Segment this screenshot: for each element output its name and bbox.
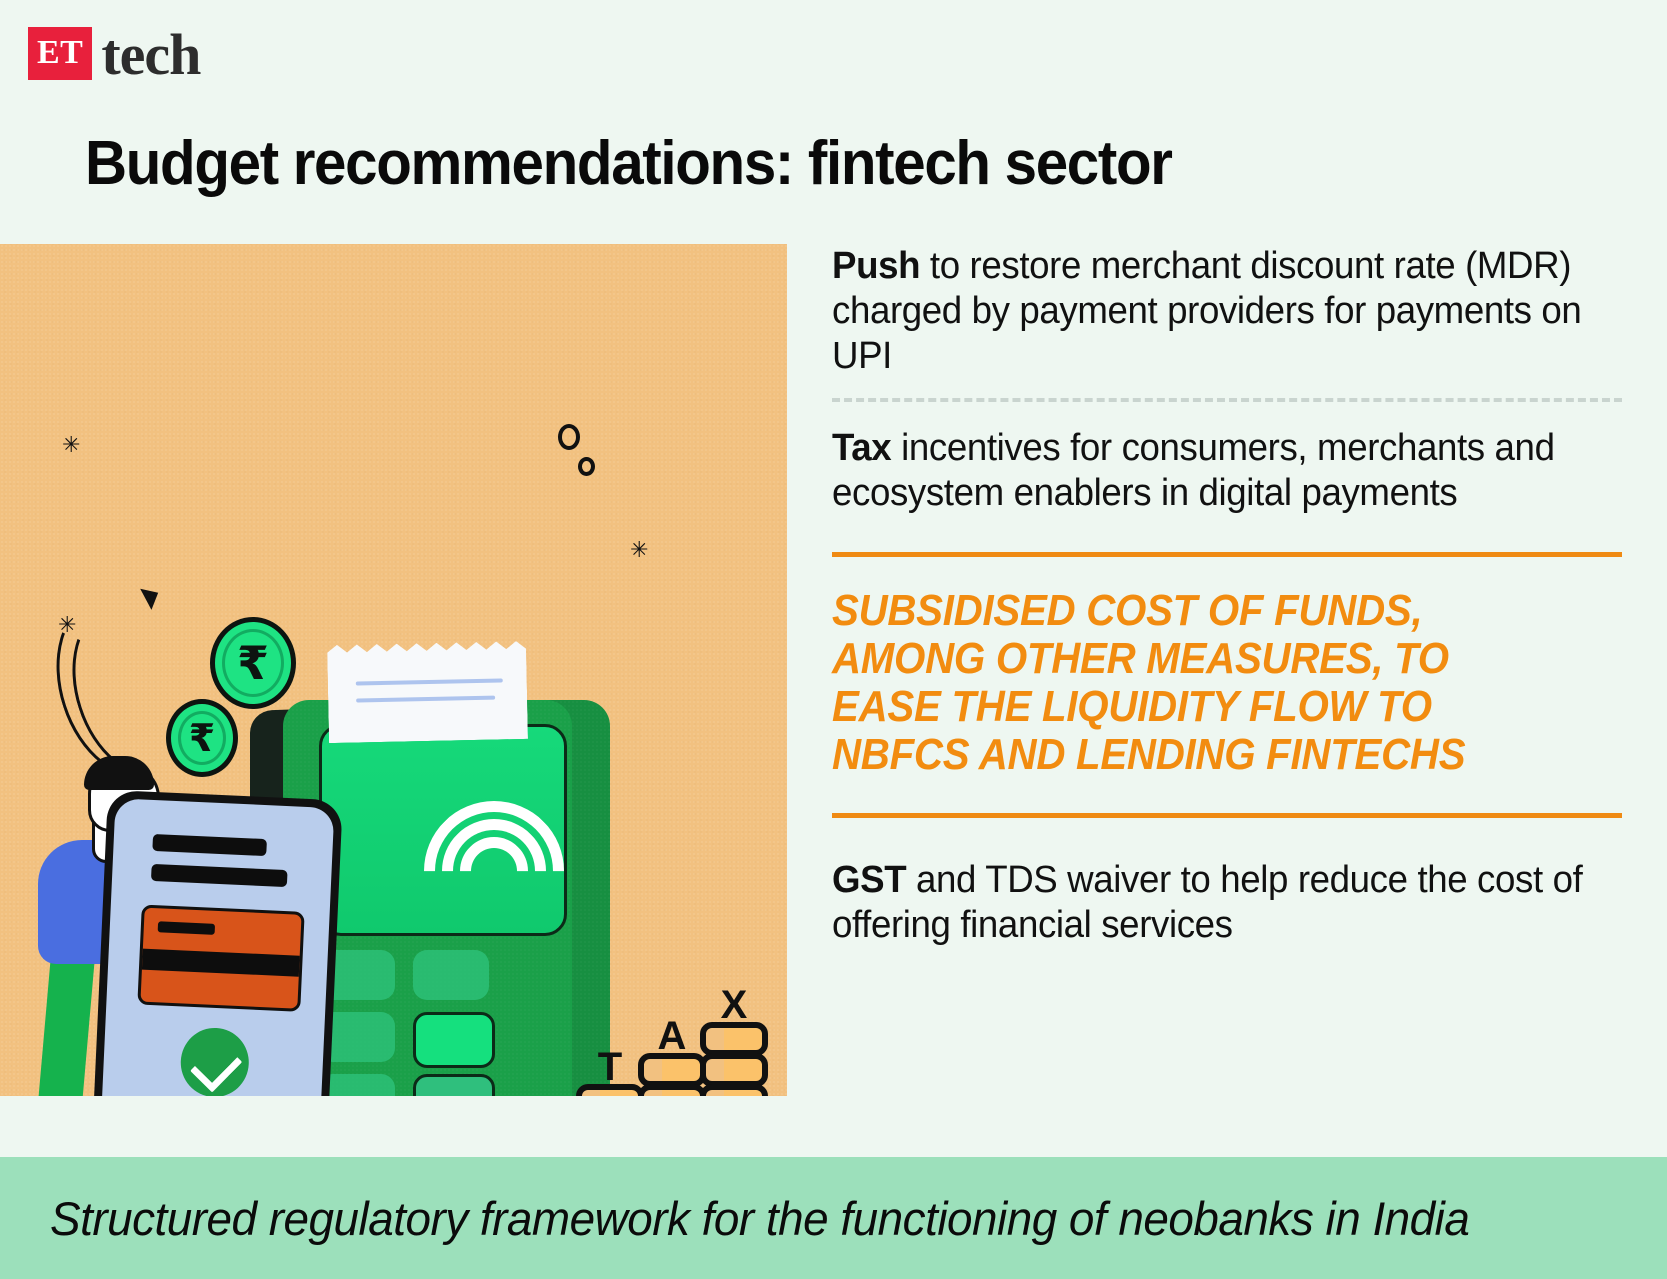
tax-stack-a: A xyxy=(638,1056,706,1096)
receipt-line xyxy=(356,679,503,686)
coin xyxy=(638,1084,706,1096)
receipt-icon xyxy=(327,641,528,743)
bubble-icon xyxy=(578,457,595,476)
recommendation-lead-1: Push xyxy=(832,245,920,287)
divider-dashed xyxy=(832,398,1622,402)
tax-stack-t: T xyxy=(576,1087,644,1096)
recommendations-column: Push to restore merchant discount rate (… xyxy=(832,244,1627,948)
coin xyxy=(700,1084,768,1096)
highlight-callout: Subsidised cost of funds, among other me… xyxy=(832,587,1559,779)
credit-card-icon xyxy=(137,905,305,1012)
smartphone: PAYMENT SUCCESSFUL xyxy=(90,790,343,1096)
screen-text-bar xyxy=(151,864,287,887)
et-logo-badge: ET xyxy=(28,27,92,80)
keypad-key[interactable] xyxy=(413,1012,495,1068)
contactless-wave-icon xyxy=(395,772,567,936)
keypad-key[interactable] xyxy=(413,950,489,1000)
divider-orange-top xyxy=(832,552,1622,557)
card-magnetic-stripe xyxy=(142,949,300,977)
coin xyxy=(638,1053,706,1087)
recommendation-item-3: GST and TDS waiver to help reduce the co… xyxy=(832,858,1599,948)
smartphone-screen: PAYMENT SUCCESSFUL xyxy=(99,798,335,1096)
receipt-line xyxy=(356,695,495,702)
keypad-key[interactable] xyxy=(413,1074,495,1096)
sparkle-icon: ✳ xyxy=(62,434,80,456)
card-chip xyxy=(157,921,214,935)
recommendation-lead-3: GST xyxy=(832,859,906,901)
bubble-icon xyxy=(558,424,580,450)
coin xyxy=(700,1053,768,1087)
ettech-logo[interactable]: ET tech xyxy=(28,22,200,84)
rupee-coin-icon: ₹ xyxy=(210,617,296,709)
tax-stack-x: X xyxy=(700,1025,768,1096)
recommendation-body-3: and TDS waiver to help reduce the cost o… xyxy=(832,859,1582,946)
recommendation-body-2: incentives for consumers, merchants and … xyxy=(832,427,1555,514)
footer-caption: Structured regulatory framework for the … xyxy=(50,1191,1469,1246)
screen-text-bar xyxy=(153,834,268,856)
coin xyxy=(700,1022,768,1056)
recommendation-item-2: Tax incentives for consumers, merchants … xyxy=(832,426,1599,516)
pos-terminal-screen xyxy=(319,724,567,936)
recommendation-body-1: to restore merchant discount rate (MDR) … xyxy=(832,245,1581,377)
rupee-coin-icon: ₹ xyxy=(166,699,238,777)
footer-bar: Structured regulatory framework for the … xyxy=(0,1157,1667,1279)
arrow-head-icon xyxy=(140,582,164,610)
success-check-icon xyxy=(179,1026,250,1096)
fintech-payment-illustration: ✳ ✳ ✳ ✳ ₹ ₹ xyxy=(0,244,787,1096)
divider-orange-bottom xyxy=(832,813,1622,818)
tax-coin-stacks: T A X xyxy=(576,1020,756,1096)
person-leg xyxy=(34,942,96,1096)
recommendation-item-1: Push to restore merchant discount rate (… xyxy=(832,244,1599,378)
tax-letter-x: X xyxy=(721,985,748,1025)
sparkle-icon: ✳ xyxy=(630,539,648,561)
tax-letter-t: T xyxy=(598,1047,622,1087)
tech-wordmark: tech xyxy=(101,26,200,84)
tax-letter-a: A xyxy=(658,1016,687,1056)
recommendation-lead-2: Tax xyxy=(832,427,891,469)
page-title: Budget recommendations: fintech sector xyxy=(85,131,1172,196)
keypad-key[interactable] xyxy=(319,1074,395,1096)
